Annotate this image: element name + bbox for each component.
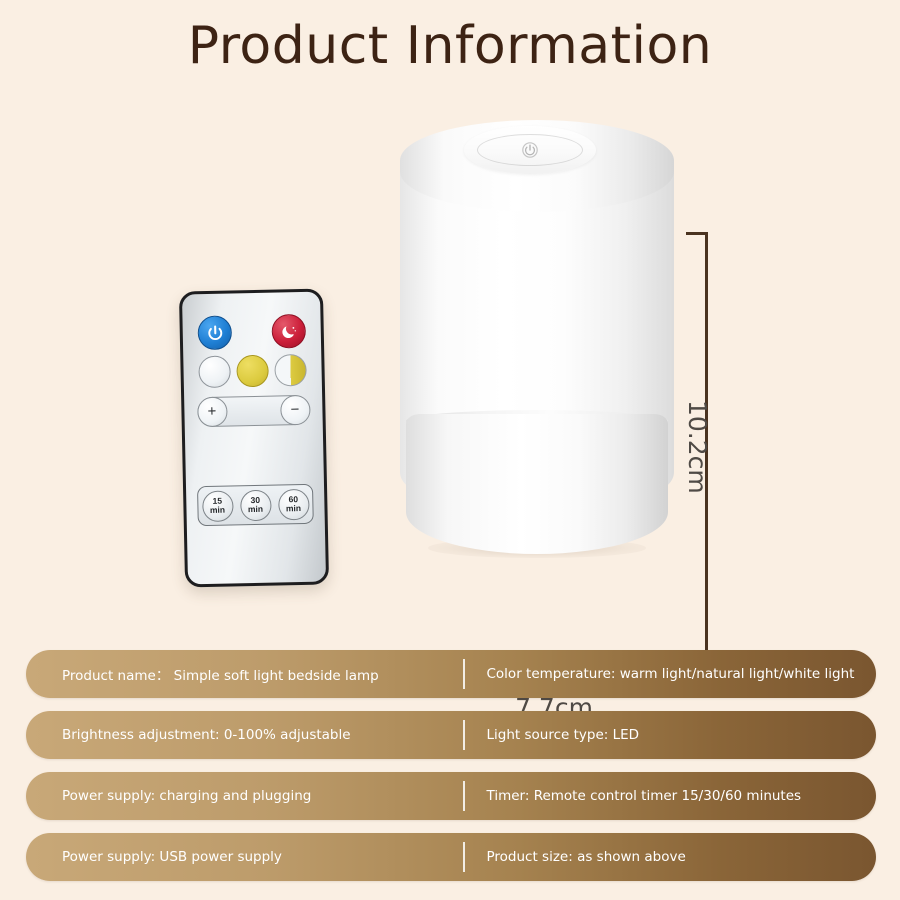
spec-left-text: Product name： Simple soft light bedside … xyxy=(26,664,463,684)
spec-left-text: Power supply: charging and plugging xyxy=(26,788,463,804)
page-title: Product Information xyxy=(0,16,900,76)
power-icon xyxy=(205,323,224,342)
spec-left-text: Brightness adjustment: 0-100% adjustable xyxy=(26,727,463,743)
height-dimension-label: 10.2cm xyxy=(683,400,712,494)
remote-timer-30min-button[interactable]: 30 min xyxy=(240,489,272,521)
remote-night-mode-button[interactable] xyxy=(271,314,306,349)
spec-right-text: Timer: Remote control timer 15/30/60 min… xyxy=(465,788,877,804)
spec-row: Power supply: USB power supply Product s… xyxy=(26,833,876,881)
remote-timer-15min-button[interactable]: 15 min xyxy=(202,490,234,522)
height-dimension-tick-top xyxy=(686,232,707,235)
remote-brightness-down-button[interactable]: − xyxy=(280,394,311,425)
moon-icon xyxy=(279,322,298,341)
spec-row: Power supply: charging and plugging Time… xyxy=(26,772,876,820)
remote-brightness-rocker: + − xyxy=(197,395,310,427)
timer-unit: min xyxy=(210,506,225,515)
bedside-lamp xyxy=(392,114,682,569)
spec-right-text: Product size: as shown above xyxy=(465,849,877,865)
power-touch-ring-icon xyxy=(518,138,542,162)
lamp-touch-ring xyxy=(477,134,583,166)
remote-timer-group: 15 min 30 min 60 min xyxy=(197,484,314,526)
remote-timer-60min-button[interactable]: 60 min xyxy=(278,488,310,520)
spec-row: Product name： Simple soft light bedside … xyxy=(26,650,876,698)
lamp-touch-panel xyxy=(464,126,596,174)
spec-right-text: Color temperature: warm light/natural li… xyxy=(465,666,877,682)
remote-warm-light-button[interactable] xyxy=(236,355,269,388)
timer-unit: min xyxy=(286,504,301,513)
spec-right-text: Light source type: LED xyxy=(465,727,877,743)
spec-left-text: Power supply: USB power supply xyxy=(26,849,463,865)
timer-unit: min xyxy=(248,505,263,514)
remote-power-button[interactable] xyxy=(197,315,232,350)
remote-control: + − 15 min 30 min 60 min xyxy=(179,289,329,588)
remote-control-face: + − 15 min 30 min 60 min xyxy=(182,292,326,585)
spec-row: Brightness adjustment: 0-100% adjustable… xyxy=(26,711,876,759)
remote-mixed-light-button[interactable] xyxy=(274,354,307,387)
specification-list: Product name： Simple soft light bedside … xyxy=(26,650,876,894)
remote-white-light-button[interactable] xyxy=(198,355,231,388)
lamp-base xyxy=(406,414,668,554)
product-image-area: + − 15 min 30 min 60 min xyxy=(0,100,900,640)
remote-brightness-up-button[interactable]: + xyxy=(197,396,228,427)
